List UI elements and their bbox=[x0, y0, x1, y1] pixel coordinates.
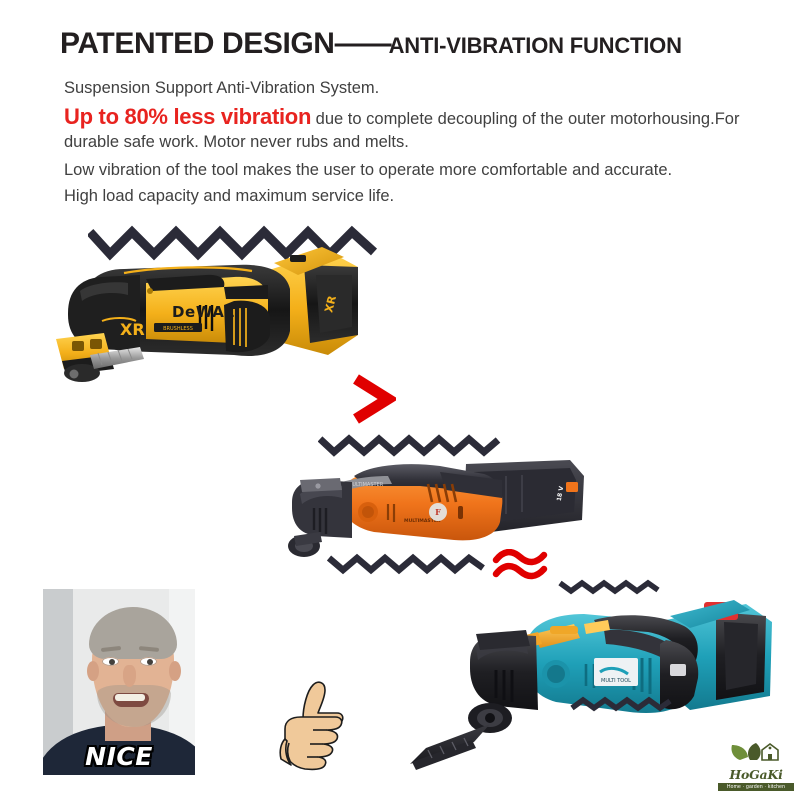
brand-name: HoGaKi bbox=[718, 769, 794, 782]
meme-ear-left bbox=[87, 661, 99, 681]
feature-line-1: Suspension Support Anti-Vibration System… bbox=[64, 78, 379, 99]
thumbs-up-icon bbox=[277, 677, 345, 775]
feature-line-4: High load capacity and maximum service l… bbox=[64, 186, 394, 207]
svg-text:MULTIMASTER: MULTIMASTER bbox=[348, 482, 384, 488]
greater-than-symbol bbox=[350, 374, 396, 424]
page-title-dash: —— bbox=[335, 27, 389, 60]
feature-line-2: Up to 80% less vibration due to complete… bbox=[64, 103, 754, 153]
meme-pupil-left bbox=[109, 659, 115, 665]
leaf-house-icon bbox=[718, 740, 794, 764]
svg-text:MULTI TOOL: MULTI TOOL bbox=[601, 678, 631, 684]
meme-mouth bbox=[113, 693, 149, 707]
meme-caption: NICE bbox=[43, 742, 195, 771]
approximately-equal-symbol bbox=[492, 549, 548, 583]
vibration-reduction-highlight: Up to 80% less vibration bbox=[64, 104, 311, 129]
teal-cutting-head bbox=[410, 630, 538, 770]
medium-amplitude-zigzag-bottom bbox=[327, 552, 497, 576]
feature-line-3: Low vibration of the tool makes the user… bbox=[64, 160, 672, 181]
fein-brand-text: F bbox=[435, 507, 441, 517]
meme-nose bbox=[123, 665, 136, 687]
brand-logo: HoGaKi Home · garden · kitchen bbox=[718, 740, 794, 792]
svg-text:BRUSHLESS: BRUSHLESS bbox=[163, 326, 193, 332]
meme-pupil-right bbox=[147, 659, 153, 665]
dewalt-multi-tool: XR DeWALT BRUS bbox=[28, 243, 368, 383]
small-amplitude-zigzag-bottom bbox=[570, 696, 680, 714]
nice-meme-photo: NICE bbox=[43, 589, 195, 775]
dewalt-brand-text: DeWALT bbox=[172, 303, 243, 321]
dewalt-xr-mark: XR bbox=[120, 320, 145, 339]
meme-ear-right bbox=[169, 661, 181, 681]
fein-cutting-head bbox=[288, 478, 352, 557]
page-title-sub: ANTI-VIBRATION FUNCTION bbox=[389, 33, 682, 58]
page-title-main: PATENTED DESIGN bbox=[60, 27, 335, 60]
brand-tagline: Home · garden · kitchen bbox=[718, 783, 794, 791]
page-title: PATENTED DESIGN——ANTI-VIBRATION FUNCTION bbox=[60, 27, 682, 61]
meme-teeth bbox=[115, 694, 145, 701]
